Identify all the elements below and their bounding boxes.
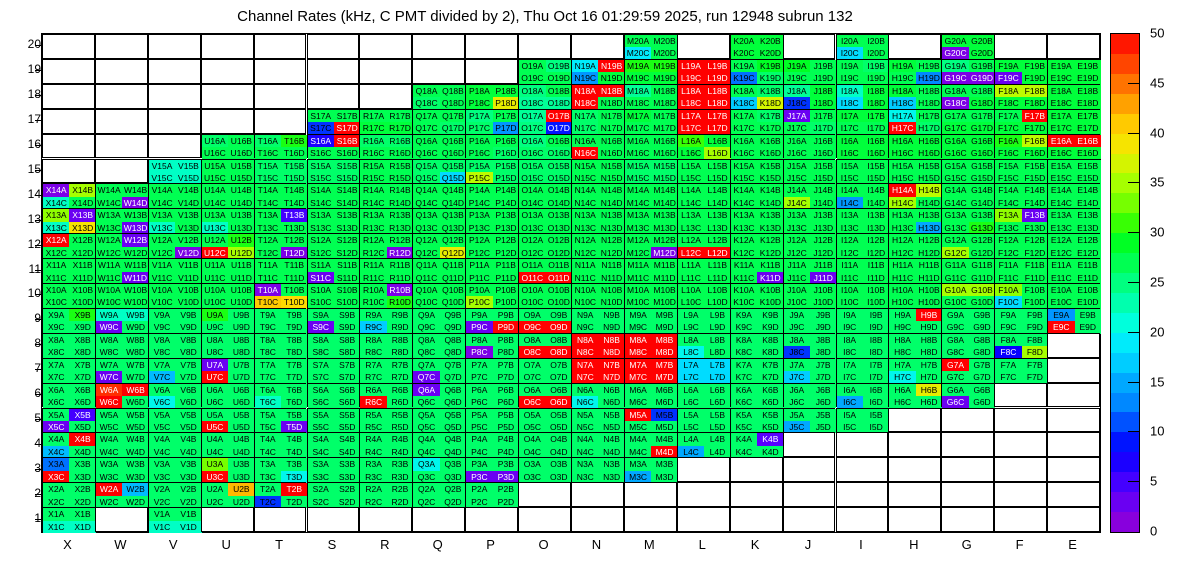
- grid-cell[interactable]: E17AE17BE17CE17D: [1047, 109, 1100, 134]
- grid-cell[interactable]: V12AV12BV12CV12D: [148, 233, 201, 258]
- grid-cell[interactable]: R7AR7BR7CR7D: [359, 358, 412, 383]
- channel-u4a[interactable]: U4A: [202, 433, 228, 445]
- grid-cell[interactable]: L10AL10BL10CL10D: [677, 283, 730, 308]
- grid-cell[interactable]: [1047, 507, 1100, 532]
- grid-cell[interactable]: I10AI10BI10CI10D: [836, 283, 889, 308]
- channel-e11b[interactable]: E11B: [1075, 259, 1101, 271]
- grid-cell[interactable]: N17AN17BN17CN17D: [571, 109, 624, 134]
- grid-cell[interactable]: U10AU10BU10CU10D: [201, 283, 254, 308]
- channel-k12b[interactable]: K12B: [757, 234, 783, 246]
- grid-cell[interactable]: J18AJ18BJ18CJ18D: [783, 84, 836, 109]
- channel-s14a[interactable]: S14A: [308, 184, 334, 196]
- channel-n9a[interactable]: N9A: [572, 309, 598, 321]
- grid-cell[interactable]: I9AI9BI9CI9D: [836, 308, 889, 333]
- channel-g15a[interactable]: G15A: [942, 160, 968, 172]
- grid-cell[interactable]: K19AK19BK19CK19D: [730, 59, 783, 84]
- channel-o19a[interactable]: O19A: [519, 60, 545, 72]
- grid-cell[interactable]: I16AI16BI16CI16D: [836, 134, 889, 159]
- channel-q16b[interactable]: Q16B: [440, 135, 466, 147]
- grid-cell[interactable]: [465, 59, 518, 84]
- grid-cell[interactable]: E18AE18BE18CE18D: [1047, 84, 1100, 109]
- channel-h6a[interactable]: H6A: [889, 384, 915, 396]
- grid-cell[interactable]: G15AG15BG15CG15D: [941, 159, 994, 184]
- channel-p5a[interactable]: P5A: [466, 409, 492, 421]
- grid-cell[interactable]: [95, 159, 148, 184]
- channel-o13b[interactable]: O13B: [546, 209, 572, 221]
- channel-k19b[interactable]: K19B: [757, 60, 783, 72]
- grid-cell[interactable]: V6AV6BV6CV6D: [148, 383, 201, 408]
- channel-i7a[interactable]: I7A: [837, 359, 863, 371]
- channel-q15b[interactable]: Q15B: [440, 160, 466, 172]
- grid-cell[interactable]: V5AV5BV5CV5D: [148, 408, 201, 433]
- grid-cell[interactable]: [571, 34, 624, 59]
- grid-cell[interactable]: S13AS13BS13CS13D: [307, 208, 360, 233]
- channel-r2b[interactable]: R2B: [387, 483, 413, 495]
- channel-s2a[interactable]: S2A: [308, 483, 334, 495]
- grid-cell[interactable]: [941, 408, 994, 433]
- channel-g18b[interactable]: G18B: [969, 85, 995, 97]
- grid-cell[interactable]: X7AX7BX7CX7D: [42, 358, 95, 383]
- channel-g6b[interactable]: G6B: [969, 384, 995, 396]
- grid-cell[interactable]: R17AR17BR17CR17D: [359, 109, 412, 134]
- channel-x1b[interactable]: X1B: [69, 508, 95, 520]
- channel-s3b[interactable]: S3B: [334, 458, 360, 470]
- grid-cell[interactable]: I6AI6BI6CI6D: [836, 383, 889, 408]
- channel-p17a[interactable]: P17A: [466, 110, 492, 122]
- grid-cell[interactable]: J6AJ6BJ6CJ6D: [783, 383, 836, 408]
- grid-cell[interactable]: [412, 59, 465, 84]
- channel-g19b[interactable]: G19B: [969, 60, 995, 72]
- channel-i5b[interactable]: I5B: [863, 409, 889, 421]
- channel-v13a[interactable]: V13A: [149, 209, 175, 221]
- channel-g20b[interactable]: G20B: [969, 35, 995, 47]
- grid-cell[interactable]: K15AK15BK15CK15D: [730, 159, 783, 184]
- channel-k18a[interactable]: K18A: [731, 85, 757, 97]
- channel-q6a[interactable]: Q6A: [413, 384, 439, 396]
- channel-q2b[interactable]: Q2B: [440, 483, 466, 495]
- channel-w6a[interactable]: W6A: [96, 384, 122, 396]
- grid-cell[interactable]: [888, 432, 941, 457]
- grid-cell[interactable]: [95, 134, 148, 159]
- grid-cell[interactable]: W12AW12BW12CW12D: [95, 233, 148, 258]
- channel-v15b[interactable]: V15B: [175, 160, 201, 172]
- channel-q7b[interactable]: Q7B: [440, 359, 466, 371]
- channel-e12a[interactable]: E12A: [1048, 234, 1074, 246]
- channel-h18a[interactable]: H18A: [889, 85, 915, 97]
- grid-cell[interactable]: V10AV10BV10CV10D: [148, 283, 201, 308]
- grid-cell[interactable]: E10AE10BE10CE10D: [1047, 283, 1100, 308]
- channel-p8b[interactable]: P8B: [493, 334, 519, 346]
- channel-k5a[interactable]: K5A: [731, 409, 757, 421]
- channel-s2b[interactable]: S2B: [334, 483, 360, 495]
- channel-k9a[interactable]: K9A: [731, 309, 757, 321]
- channel-p10b[interactable]: P10B: [493, 284, 519, 296]
- channel-r12b[interactable]: R12B: [387, 234, 413, 246]
- channel-m17a[interactable]: M17A: [625, 110, 651, 122]
- channel-x4a[interactable]: X4A: [43, 433, 69, 445]
- grid-cell[interactable]: X11AX11BX11CX11D: [42, 258, 95, 283]
- channel-g9a[interactable]: G9A: [942, 309, 968, 321]
- channel-m6b[interactable]: M6B: [651, 384, 677, 396]
- grid-cell[interactable]: E16AE16BE16CE16D: [1047, 134, 1100, 159]
- channel-k13b[interactable]: K13B: [757, 209, 783, 221]
- grid-cell[interactable]: O16AO16BO16CO16D: [518, 134, 571, 159]
- channel-k17a[interactable]: K17A: [731, 110, 757, 122]
- channel-f7b[interactable]: F7B: [1022, 359, 1048, 371]
- channel-k19a[interactable]: K19A: [731, 60, 757, 72]
- channel-r9b[interactable]: R9B: [387, 309, 413, 321]
- channel-i5a[interactable]: I5A: [837, 409, 863, 421]
- channel-k9b[interactable]: K9B: [757, 309, 783, 321]
- channel-l16b[interactable]: L16B: [704, 135, 730, 147]
- grid-cell[interactable]: U9AU9BU9CU9D: [201, 308, 254, 333]
- channel-g10a[interactable]: G10A: [942, 284, 968, 296]
- grid-cell[interactable]: [994, 457, 1047, 482]
- channel-w2a[interactable]: W2A: [96, 483, 122, 495]
- channel-i20b[interactable]: I20B: [863, 35, 889, 47]
- channel-s15b[interactable]: S15B: [334, 160, 360, 172]
- channel-k14b[interactable]: K14B: [757, 184, 783, 196]
- grid-cell[interactable]: K17AK17BK17CK17D: [730, 109, 783, 134]
- grid-cell[interactable]: O4AO4BO4CO4D: [518, 432, 571, 457]
- channel-m7b[interactable]: M7B: [651, 359, 677, 371]
- channel-s11b[interactable]: S11B: [334, 259, 360, 271]
- grid-cell[interactable]: [148, 84, 201, 109]
- channel-j15a[interactable]: J15A: [784, 160, 810, 172]
- channel-u13a[interactable]: U13A: [202, 209, 228, 221]
- channel-o6a[interactable]: O6A: [519, 384, 545, 396]
- channel-j9b[interactable]: J9B: [810, 309, 836, 321]
- channel-u12a[interactable]: U12A: [202, 234, 228, 246]
- channel-h17a[interactable]: H17A: [889, 110, 915, 122]
- channel-w11b[interactable]: W11B: [122, 259, 148, 271]
- grid-cell[interactable]: U2AU2BU2CU2D: [201, 482, 254, 507]
- channel-p13b[interactable]: P13B: [493, 209, 519, 221]
- channel-q17b[interactable]: Q17B: [440, 110, 466, 122]
- channel-w7b[interactable]: W7B: [122, 359, 148, 371]
- grid-cell[interactable]: I14AI14BI14CI14D: [836, 183, 889, 208]
- channel-h15a[interactable]: H15A: [889, 160, 915, 172]
- channel-v1c[interactable]: V1C: [149, 521, 175, 533]
- channel-v8b[interactable]: V8B: [175, 334, 201, 346]
- channel-k6a[interactable]: K6A: [731, 384, 757, 396]
- channel-h6b[interactable]: H6B: [916, 384, 942, 396]
- grid-cell[interactable]: F14AF14BF14CF14D: [994, 183, 1047, 208]
- channel-o15a[interactable]: O15A: [519, 160, 545, 172]
- grid-cell[interactable]: [994, 507, 1047, 532]
- channel-r3b[interactable]: R3B: [387, 458, 413, 470]
- channel-l11a[interactable]: L11A: [678, 259, 704, 271]
- channel-s12b[interactable]: S12B: [334, 234, 360, 246]
- channel-o9b[interactable]: O9B: [546, 309, 572, 321]
- grid-cell[interactable]: V11AV11BV11CV11D: [148, 258, 201, 283]
- channel-w14b[interactable]: W14B: [122, 184, 148, 196]
- grid-cell[interactable]: G12AG12BG12CG12D: [941, 233, 994, 258]
- channel-x3b[interactable]: X3B: [69, 458, 95, 470]
- channel-j19a[interactable]: J19A: [784, 60, 810, 72]
- grid-cell[interactable]: [571, 507, 624, 532]
- channel-o17b[interactable]: O17B: [546, 110, 572, 122]
- grid-cell[interactable]: T14AT14BT14CT14D: [254, 183, 307, 208]
- channel-f10b[interactable]: F10B: [1022, 284, 1048, 296]
- channel-x2b[interactable]: X2B: [69, 483, 95, 495]
- channel-l12b[interactable]: L12B: [704, 234, 730, 246]
- grid-cell[interactable]: W14AW14BW14CW14D: [95, 183, 148, 208]
- channel-u13b[interactable]: U13B: [228, 209, 254, 221]
- grid-cell[interactable]: G17AG17BG17CG17D: [941, 109, 994, 134]
- grid-cell[interactable]: [95, 59, 148, 84]
- channel-e18b[interactable]: E18B: [1075, 85, 1101, 97]
- channel-p8a[interactable]: P8A: [466, 334, 492, 346]
- channel-o8b[interactable]: O8B: [546, 334, 572, 346]
- channel-v11a[interactable]: V11A: [149, 259, 175, 271]
- channel-t5b[interactable]: T5B: [281, 409, 307, 421]
- channel-h9a[interactable]: H9A: [889, 309, 915, 321]
- channel-i19b[interactable]: I19B: [863, 60, 889, 72]
- grid-cell[interactable]: W13AW13BW13CW13D: [95, 208, 148, 233]
- channel-u6b[interactable]: U6B: [228, 384, 254, 396]
- channel-n3b[interactable]: N3B: [598, 458, 624, 470]
- channel-h10a[interactable]: H10A: [889, 284, 915, 296]
- channel-x12a[interactable]: X12A: [43, 234, 69, 246]
- channel-w10a[interactable]: W10A: [96, 284, 122, 296]
- channel-i14a[interactable]: I14A: [837, 184, 863, 196]
- heatmap-grid[interactable]: M20AM20BM20CM20DK20AK20BK20CK20DI20AI20B…: [41, 33, 1101, 533]
- grid-cell[interactable]: K9AK9BK9CK9D: [730, 308, 783, 333]
- grid-cell[interactable]: [836, 507, 889, 532]
- grid-cell[interactable]: [95, 84, 148, 109]
- channel-v3a[interactable]: V3A: [149, 458, 175, 470]
- channel-f16b[interactable]: F16B: [1022, 135, 1048, 147]
- channel-r9a[interactable]: R9A: [360, 309, 386, 321]
- grid-cell[interactable]: S3AS3BS3CS3D: [307, 457, 360, 482]
- channel-o15b[interactable]: O15B: [546, 160, 572, 172]
- grid-cell[interactable]: G7AG7BG7CG7D: [941, 358, 994, 383]
- grid-cell[interactable]: X10AX10BX10CX10D: [42, 283, 95, 308]
- grid-cell[interactable]: [201, 109, 254, 134]
- grid-cell[interactable]: L12AL12BL12CL12D: [677, 233, 730, 258]
- channel-f9b[interactable]: F9B: [1022, 309, 1048, 321]
- channel-n17a[interactable]: N17A: [572, 110, 598, 122]
- channel-o19b[interactable]: O19B: [546, 60, 572, 72]
- channel-l10b[interactable]: L10B: [704, 284, 730, 296]
- grid-cell[interactable]: [148, 109, 201, 134]
- channel-r4a[interactable]: R4A: [360, 433, 386, 445]
- channel-p11a[interactable]: P11A: [466, 259, 492, 271]
- grid-cell[interactable]: L4AL4BL4CL4D: [677, 432, 730, 457]
- channel-o11b[interactable]: O11B: [546, 259, 572, 271]
- grid-cell[interactable]: [254, 109, 307, 134]
- grid-cell[interactable]: N5AN5BN5CN5D: [571, 408, 624, 433]
- grid-cell[interactable]: P5AP5BP5CP5D: [465, 408, 518, 433]
- channel-n19a[interactable]: N19A: [572, 60, 598, 72]
- channel-t3a[interactable]: T3A: [255, 458, 281, 470]
- grid-cell[interactable]: G20AG20BG20CG20D: [941, 34, 994, 59]
- grid-cell[interactable]: R11AR11BR11CR11D: [359, 258, 412, 283]
- channel-w12b[interactable]: W12B: [122, 234, 148, 246]
- grid-cell[interactable]: M15AM15BM15CM15D: [624, 159, 677, 184]
- channel-u12b[interactable]: U12B: [228, 234, 254, 246]
- channel-o14a[interactable]: O14A: [519, 184, 545, 196]
- grid-cell[interactable]: O10AO10BO10CO10D: [518, 283, 571, 308]
- channel-r15a[interactable]: R15A: [360, 160, 386, 172]
- channel-q5a[interactable]: Q5A: [413, 409, 439, 421]
- channel-j15b[interactable]: J15B: [810, 160, 836, 172]
- grid-cell[interactable]: I12AI12BI12CI12D: [836, 233, 889, 258]
- channel-m19b[interactable]: M19B: [651, 60, 677, 72]
- channel-i13a[interactable]: I13A: [837, 209, 863, 221]
- grid-cell[interactable]: K14AK14BK14CK14D: [730, 183, 783, 208]
- channel-h16a[interactable]: H16A: [889, 135, 915, 147]
- channel-e12b[interactable]: E12B: [1075, 234, 1101, 246]
- channel-h7a[interactable]: H7A: [889, 359, 915, 371]
- grid-cell[interactable]: R16AR16BR16CR16D: [359, 134, 412, 159]
- channel-f9a[interactable]: F9A: [995, 309, 1021, 321]
- grid-cell[interactable]: [1047, 333, 1100, 358]
- channel-k11b[interactable]: K11B: [757, 259, 783, 271]
- channel-m13b[interactable]: M13B: [651, 209, 677, 221]
- channel-m16b[interactable]: M16B: [651, 135, 677, 147]
- grid-cell[interactable]: G8AG8BG8CG8D: [941, 333, 994, 358]
- channel-j7a[interactable]: J7A: [784, 359, 810, 371]
- grid-cell[interactable]: J19AJ19BJ19CJ19D: [783, 59, 836, 84]
- grid-cell[interactable]: E12AE12BE12CE12D: [1047, 233, 1100, 258]
- channel-p7b[interactable]: P7B: [493, 359, 519, 371]
- grid-cell[interactable]: K10AK10BK10CK10D: [730, 283, 783, 308]
- grid-cell[interactable]: X2AX2BX2CX2D: [42, 482, 95, 507]
- channel-r5b[interactable]: R5B: [387, 409, 413, 421]
- channel-i13b[interactable]: I13B: [863, 209, 889, 221]
- channel-l12a[interactable]: L12A: [678, 234, 704, 246]
- channel-t14b[interactable]: T14B: [281, 184, 307, 196]
- channel-u2a[interactable]: U2A: [202, 483, 228, 495]
- grid-cell[interactable]: Q8AQ8BQ8CQ8D: [412, 333, 465, 358]
- channel-e9a[interactable]: E9A: [1048, 309, 1074, 321]
- grid-cell[interactable]: G9AG9BG9CG9D: [941, 308, 994, 333]
- grid-cell[interactable]: [307, 84, 360, 109]
- channel-u2b[interactable]: U2B: [228, 483, 254, 495]
- channel-h9b[interactable]: H9B: [916, 309, 942, 321]
- channel-r7a[interactable]: R7A: [360, 359, 386, 371]
- channel-p6a[interactable]: P6A: [466, 384, 492, 396]
- channel-x3a[interactable]: X3A: [43, 458, 69, 470]
- channel-q18a[interactable]: Q18A: [413, 85, 439, 97]
- channel-x9b[interactable]: X9B: [69, 309, 95, 321]
- channel-h11b[interactable]: H11B: [916, 259, 942, 271]
- grid-cell[interactable]: H13AH13BH13CH13D: [888, 208, 941, 233]
- grid-cell[interactable]: O8AO8BO8CO8D: [518, 333, 571, 358]
- channel-m11b[interactable]: M11B: [651, 259, 677, 271]
- channel-f15b[interactable]: F15B: [1022, 160, 1048, 172]
- channel-n13b[interactable]: N13B: [598, 209, 624, 221]
- channel-g11b[interactable]: G11B: [969, 259, 995, 271]
- grid-cell[interactable]: Q7AQ7BQ7CQ7D: [412, 358, 465, 383]
- channel-h12a[interactable]: H12A: [889, 234, 915, 246]
- channel-i10b[interactable]: I10B: [863, 284, 889, 296]
- grid-cell[interactable]: G11AG11BG11CG11D: [941, 258, 994, 283]
- grid-cell[interactable]: F11AF11BF11CF11D: [994, 258, 1047, 283]
- grid-cell[interactable]: Q17AQ17BQ17CQ17D: [412, 109, 465, 134]
- grid-cell[interactable]: [95, 109, 148, 134]
- channel-o16b[interactable]: O16B: [546, 135, 572, 147]
- channel-p3a[interactable]: P3A: [466, 458, 492, 470]
- grid-cell[interactable]: N10AN10BN10CN10D: [571, 283, 624, 308]
- grid-cell[interactable]: P15AP15BP15CP15D: [465, 159, 518, 184]
- grid-cell[interactable]: J7AJ7BJ7CJ7D: [783, 358, 836, 383]
- channel-f7a[interactable]: F7A: [995, 359, 1021, 371]
- grid-cell[interactable]: [307, 34, 360, 59]
- channel-m15a[interactable]: M15A: [625, 160, 651, 172]
- grid-cell[interactable]: K20AK20BK20CK20D: [730, 34, 783, 59]
- grid-cell[interactable]: O11AO11BO11CO11D: [518, 258, 571, 283]
- grid-cell[interactable]: O6AO6BO6CO6D: [518, 383, 571, 408]
- channel-q4a[interactable]: Q4A: [413, 433, 439, 445]
- channel-p18b[interactable]: P18B: [493, 85, 519, 97]
- grid-cell[interactable]: [201, 59, 254, 84]
- channel-e13a[interactable]: E13A: [1048, 209, 1074, 221]
- channel-g7a[interactable]: G7A: [942, 359, 968, 371]
- channel-i9b[interactable]: I9B: [863, 309, 889, 321]
- channel-w3b[interactable]: W3B: [122, 458, 148, 470]
- channel-q18b[interactable]: Q18B: [440, 85, 466, 97]
- channel-f8b[interactable]: F8B: [1022, 334, 1048, 346]
- channel-p14b[interactable]: P14B: [493, 184, 519, 196]
- grid-cell[interactable]: H6AH6BH6CH6D: [888, 383, 941, 408]
- channel-w3a[interactable]: W3A: [96, 458, 122, 470]
- channel-j10b[interactable]: J10B: [810, 284, 836, 296]
- grid-cell[interactable]: W5AW5BW5CW5D: [95, 408, 148, 433]
- channel-j18a[interactable]: J18A: [784, 85, 810, 97]
- channel-m20a[interactable]: M20A: [625, 35, 651, 47]
- grid-cell[interactable]: J12AJ12BJ12CJ12D: [783, 233, 836, 258]
- channel-g7b[interactable]: G7B: [969, 359, 995, 371]
- channel-m8b[interactable]: M8B: [651, 334, 677, 346]
- channel-k4a[interactable]: K4A: [731, 433, 757, 445]
- channel-j12b[interactable]: J12B: [810, 234, 836, 246]
- channel-v1d[interactable]: V1D: [175, 521, 201, 533]
- grid-cell[interactable]: H14AH14BH14CH14D: [888, 183, 941, 208]
- channel-t11a[interactable]: T11A: [255, 259, 281, 271]
- channel-t8b[interactable]: T8B: [281, 334, 307, 346]
- channel-p9a[interactable]: P9A: [466, 309, 492, 321]
- grid-cell[interactable]: H11AH11BH11CH11D: [888, 258, 941, 283]
- channel-g12a[interactable]: G12A: [942, 234, 968, 246]
- channel-x5b[interactable]: X5B: [69, 409, 95, 421]
- channel-t6b[interactable]: T6B: [281, 384, 307, 396]
- grid-cell[interactable]: [994, 34, 1047, 59]
- channel-s7b[interactable]: S7B: [334, 359, 360, 371]
- grid-cell[interactable]: T13AT13BT13CT13D: [254, 208, 307, 233]
- channel-r6b[interactable]: R6B: [387, 384, 413, 396]
- channel-q5b[interactable]: Q5B: [440, 409, 466, 421]
- grid-cell[interactable]: K7AK7BK7CK7D: [730, 358, 783, 383]
- channel-i8a[interactable]: I8A: [837, 334, 863, 346]
- grid-cell[interactable]: T3AT3BT3CT3D: [254, 457, 307, 482]
- channel-g14a[interactable]: G14A: [942, 184, 968, 196]
- channel-j8b[interactable]: J8B: [810, 334, 836, 346]
- channel-v8a[interactable]: V8A: [149, 334, 175, 346]
- channel-t16a[interactable]: T16A: [255, 135, 281, 147]
- channel-l15b[interactable]: L15B: [704, 160, 730, 172]
- grid-cell[interactable]: R12AR12BR12CR12D: [359, 233, 412, 258]
- grid-cell[interactable]: P14AP14BP14CP14D: [465, 183, 518, 208]
- channel-i11b[interactable]: I11B: [863, 259, 889, 271]
- grid-cell[interactable]: F7AF7BF7CF7D: [994, 358, 1047, 383]
- channel-t4b[interactable]: T4B: [281, 433, 307, 445]
- channel-q14a[interactable]: Q14A: [413, 184, 439, 196]
- channel-w4a[interactable]: W4A: [96, 433, 122, 445]
- grid-cell[interactable]: L14AL14BL14CL14D: [677, 183, 730, 208]
